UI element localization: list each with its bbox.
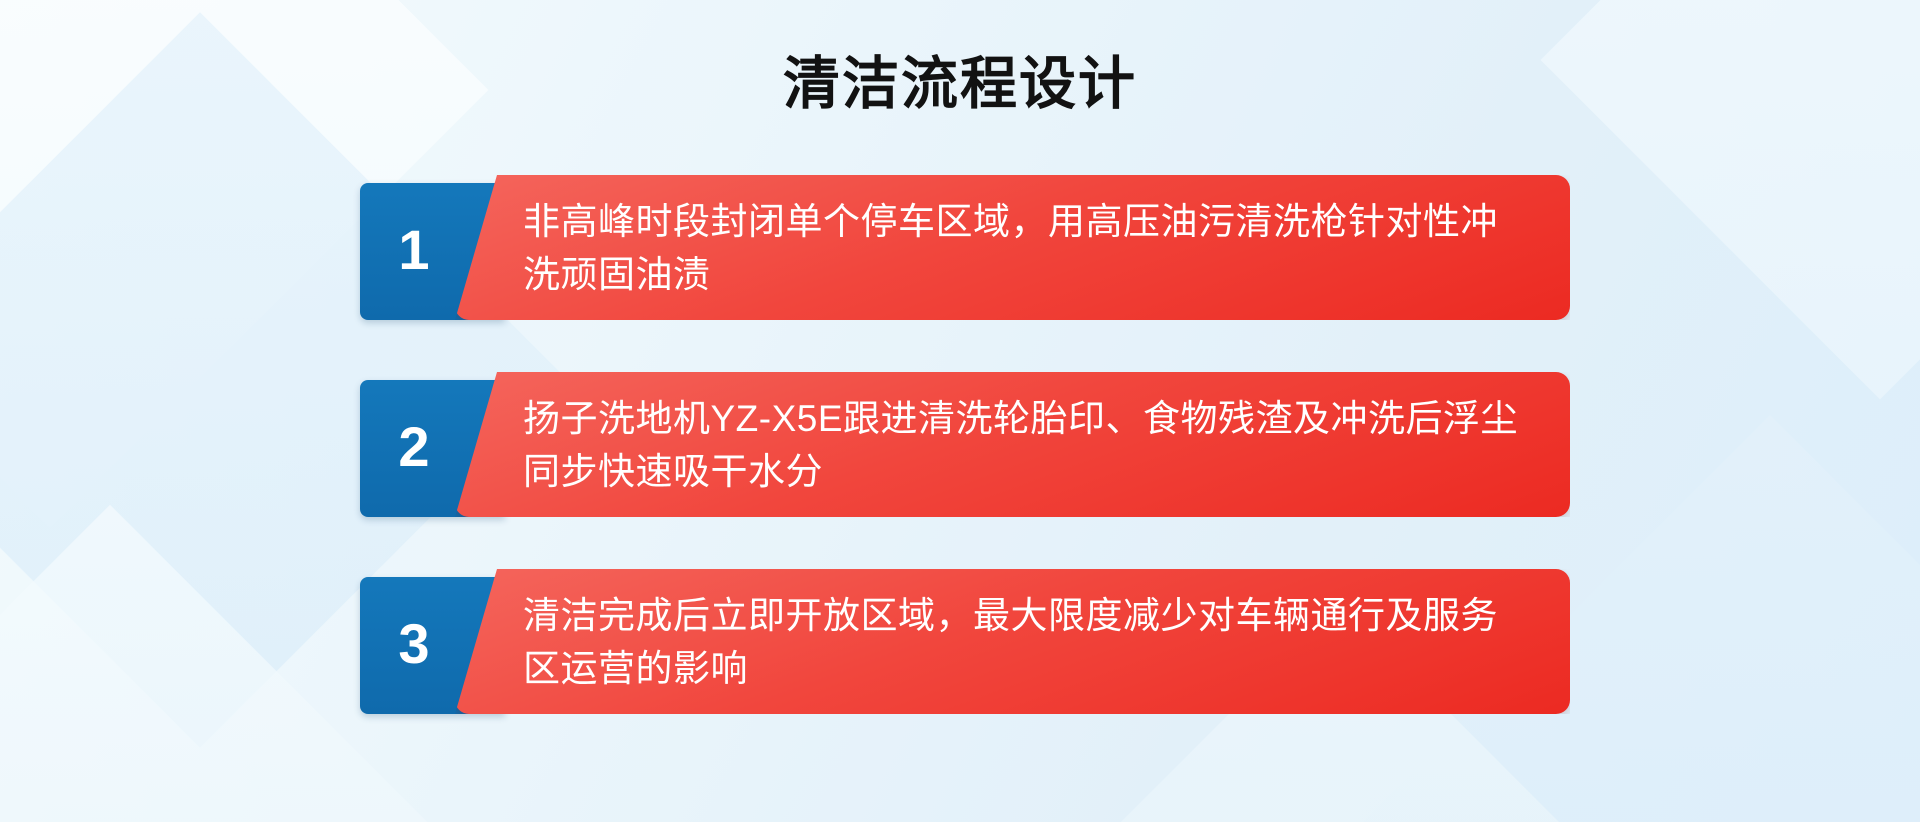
step-number-3: 3 xyxy=(360,577,468,714)
step-number-2: 2 xyxy=(360,380,468,517)
step-text-1: 非高峰时段封闭单个停车区域，用高压油污清洗枪针对性冲洗顽固油渍 xyxy=(523,195,1533,301)
step-row-2: 2 扬子洗地机YZ-X5E跟进清洗轮胎印、食物残渣及冲洗后浮尘同步快速吸干水分 xyxy=(0,372,1920,517)
step-text-2: 扬子洗地机YZ-X5E跟进清洗轮胎印、食物残渣及冲洗后浮尘同步快速吸干水分 xyxy=(523,392,1533,498)
step-text-3: 清洁完成后立即开放区域，最大限度减少对车辆通行及服务区运营的影响 xyxy=(523,589,1533,695)
step-card-2[interactable]: 扬子洗地机YZ-X5E跟进清洗轮胎印、食物残渣及冲洗后浮尘同步快速吸干水分 xyxy=(455,372,1570,517)
step-card-3[interactable]: 清洁完成后立即开放区域，最大限度减少对车辆通行及服务区运营的影响 xyxy=(455,569,1570,714)
step-row-1: 1 非高峰时段封闭单个停车区域，用高压油污清洗枪针对性冲洗顽固油渍 xyxy=(0,175,1920,320)
slide-canvas: 清洁流程设计 1 非高峰时段封闭单个停车区域，用高压油污清洗枪针对性冲洗顽固油渍… xyxy=(0,0,1920,822)
step-card-1[interactable]: 非高峰时段封闭单个停车区域，用高压油污清洗枪针对性冲洗顽固油渍 xyxy=(455,175,1570,320)
steps-list: 1 非高峰时段封闭单个停车区域，用高压油污清洗枪针对性冲洗顽固油渍 2 扬子洗地… xyxy=(0,175,1920,714)
step-number-1: 1 xyxy=(360,183,468,320)
step-row-3: 3 清洁完成后立即开放区域，最大限度减少对车辆通行及服务区运营的影响 xyxy=(0,569,1920,714)
page-title: 清洁流程设计 xyxy=(0,48,1920,120)
